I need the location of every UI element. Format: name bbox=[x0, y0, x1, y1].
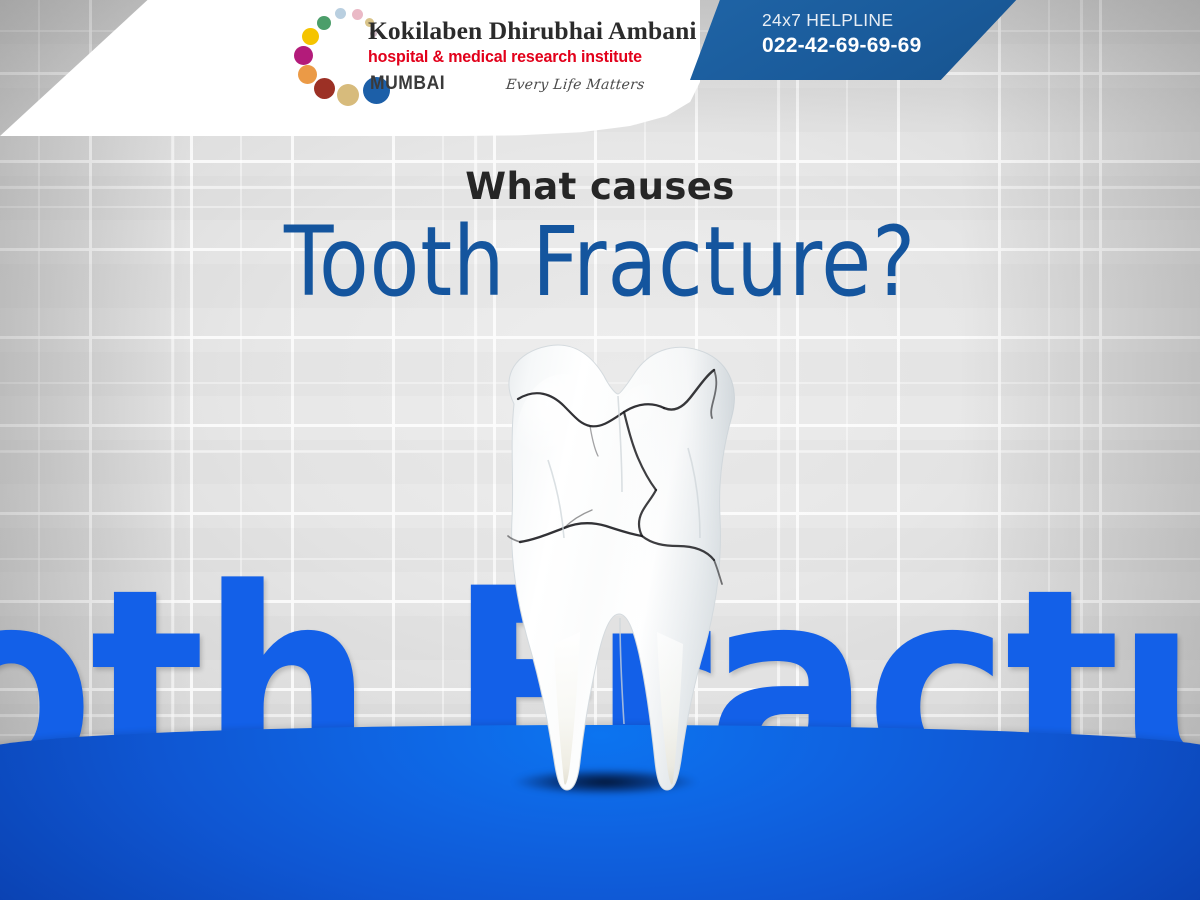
hospital-logo[interactable]: Kokilaben Dhirubhai Ambani hospital & me… bbox=[290, 4, 670, 122]
logo-wordmark: Kokilaben Dhirubhai Ambani hospital & me… bbox=[368, 18, 668, 99]
tooth-icon bbox=[452, 332, 782, 802]
brand-city: MUMBAI bbox=[370, 73, 445, 95]
dot-lightblue-icon bbox=[335, 8, 346, 19]
brand-name: Kokilaben Dhirubhai Ambani bbox=[368, 18, 668, 44]
cracked-tooth-illustration bbox=[452, 332, 782, 802]
dot-yellow-icon bbox=[302, 28, 319, 45]
dot-pink-icon bbox=[352, 9, 363, 20]
helpline-content: 24x7 HELPLINE 022-42-69-69-69 bbox=[762, 10, 921, 58]
helpline-phone-number[interactable]: 022-42-69-69-69 bbox=[762, 34, 921, 58]
dot-orange-icon bbox=[298, 65, 317, 84]
dot-maroon-icon bbox=[314, 78, 335, 99]
dot-magenta-icon bbox=[294, 46, 313, 65]
brand-bottom-row: MUMBAI Every Life Matters bbox=[368, 73, 668, 99]
brand-tagline: Every Life Matters bbox=[505, 77, 645, 93]
helpline-label: 24x7 HELPLINE bbox=[762, 10, 921, 31]
dot-beige-icon bbox=[337, 84, 359, 106]
brand-subtitle: hospital & medical research institute bbox=[368, 48, 659, 67]
dot-green-icon bbox=[317, 16, 331, 30]
poster-canvas: What causes Tooth Fracture? Tooth Fractu… bbox=[0, 0, 1200, 900]
